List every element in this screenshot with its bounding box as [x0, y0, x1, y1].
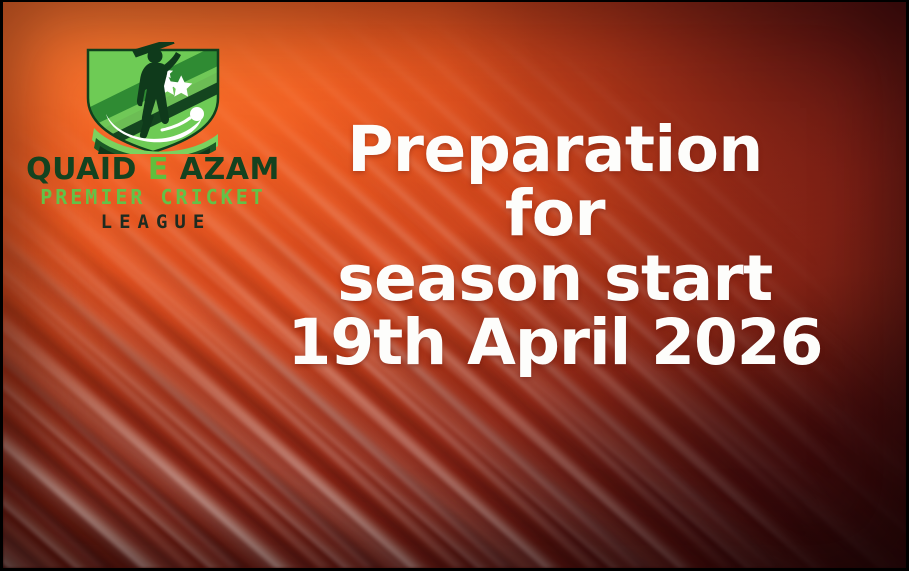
headline-line-3: season start [210, 247, 900, 311]
headline-line-1: Preparation [210, 118, 900, 182]
wordmark-quaid: QUAID [26, 152, 137, 187]
cricket-ball-icon [190, 107, 204, 121]
headline-block: Preparation for season start 19th April … [210, 118, 900, 375]
wordmark-e: E [148, 152, 169, 187]
headline-line-2: for [210, 182, 900, 246]
headline-line-4: 19th April 2026 [210, 311, 900, 375]
poster-canvas: QUAID E AZAM PREMIER CRICKET LEAGUE Prep… [0, 0, 909, 571]
